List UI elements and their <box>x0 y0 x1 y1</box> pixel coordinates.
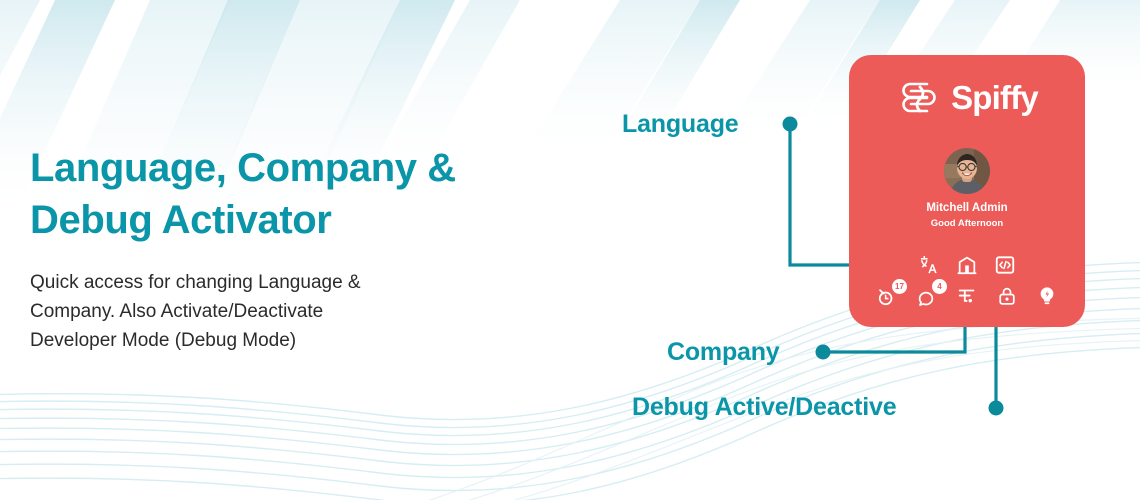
lock-icon[interactable] <box>996 285 1018 307</box>
lightbulb-icon[interactable] <box>1036 285 1058 307</box>
company-building-icon[interactable] <box>956 254 978 276</box>
brand-name: Spiffy <box>951 79 1038 117</box>
callout-label-language: Language <box>622 110 738 139</box>
user-greeting: Good Afternoon <box>849 218 1085 229</box>
spiffy-paperclip-s-logo-icon <box>896 75 942 121</box>
chat-message-icon[interactable]: 4 <box>916 285 938 307</box>
callout-label-debug: Debug Active/Deactive <box>632 393 896 422</box>
quick-actions-row <box>849 254 1085 276</box>
hero-banner: Language, Company & Debug Activator Quic… <box>0 0 1140 500</box>
code-debug-icon[interactable] <box>994 254 1016 276</box>
avatar[interactable] <box>944 148 990 194</box>
badge-count: 17 <box>892 279 907 294</box>
badge-count: 4 <box>932 279 947 294</box>
clock-activity-icon[interactable]: 17 <box>876 285 898 307</box>
translate-language-icon[interactable] <box>918 254 940 276</box>
avatar-photo <box>944 148 990 194</box>
brand-logo: Spiffy <box>849 75 1085 121</box>
callout-label-company: Company <box>667 338 780 367</box>
status-icons-row: 17 4 <box>849 285 1085 307</box>
connector-dot-company <box>816 345 831 360</box>
spiffy-app-card: Spiffy <box>849 55 1085 327</box>
tasks-icon[interactable] <box>956 285 978 307</box>
connector-dot-debug <box>989 401 1004 416</box>
connector-dot-language <box>783 117 798 132</box>
user-name: Mitchell Admin <box>849 202 1085 214</box>
